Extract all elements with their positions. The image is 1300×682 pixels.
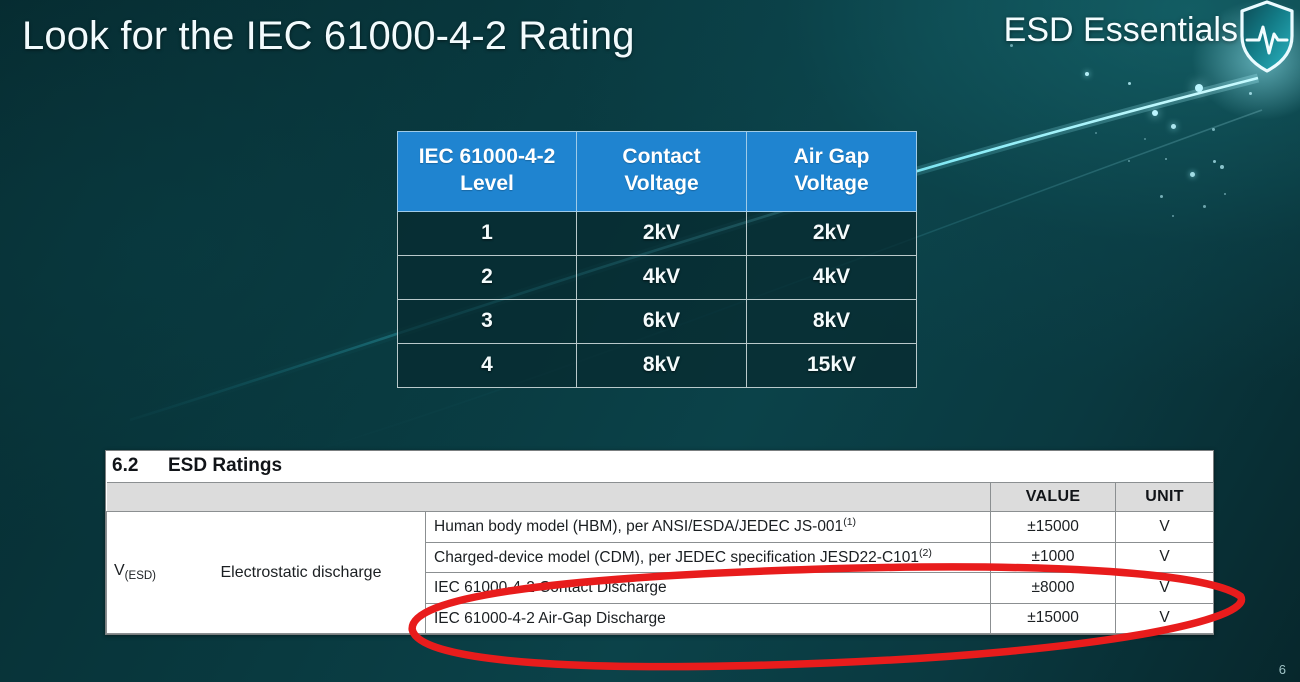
cell-parameter: Electrostatic discharge xyxy=(219,512,426,634)
page-number: 6 xyxy=(1279,662,1286,677)
cell-airgap: 15kV xyxy=(747,343,917,387)
cell-level: 2 xyxy=(398,255,577,299)
column-header-level: IEC 61000-4-2 Level xyxy=(398,132,577,212)
brand-lockup: ESD Essentials xyxy=(1004,11,1238,50)
cell-condition: Charged-device model (CDM), per JEDEC sp… xyxy=(426,542,991,573)
cell-contact: 8kV xyxy=(577,343,747,387)
column-header-value: VALUE xyxy=(991,483,1116,512)
iec-level-table: IEC 61000-4-2 Level Contact Voltage Air … xyxy=(397,131,917,388)
cell-value: ±1000 xyxy=(991,542,1116,573)
cell-level: 3 xyxy=(398,299,577,343)
condition-text: Human body model (HBM), per ANSI/ESDA/JE… xyxy=(434,518,843,535)
condition-text: IEC 61000-4-2 Contact Discharge xyxy=(434,579,667,596)
section-number: 6.2 xyxy=(112,455,146,477)
cell-symbol: V(ESD) xyxy=(107,512,219,634)
cell-unit: V xyxy=(1116,512,1214,543)
cell-value: ±15000 xyxy=(991,603,1116,634)
header-line-1: Contact xyxy=(622,145,700,168)
table-row: 1 2kV 2kV xyxy=(398,211,917,255)
cell-contact: 2kV xyxy=(577,211,747,255)
table-row: 3 6kV 8kV xyxy=(398,299,917,343)
table-header-row: IEC 61000-4-2 Level Contact Voltage Air … xyxy=(398,132,917,212)
cell-level: 1 xyxy=(398,211,577,255)
condition-text: IEC 61000-4-2 Air-Gap Discharge xyxy=(434,610,666,627)
cell-unit: V xyxy=(1116,573,1214,604)
section-title: ESD Ratings xyxy=(168,455,282,477)
header-line-2: Voltage xyxy=(794,172,868,195)
cell-airgap: 2kV xyxy=(747,211,917,255)
datasheet-header-row: VALUE UNIT xyxy=(107,483,1214,512)
cell-unit: V xyxy=(1116,542,1214,573)
cell-condition: IEC 61000-4-2 Air-Gap Discharge xyxy=(426,603,991,634)
table-row: V(ESD) Electrostatic discharge Human bod… xyxy=(107,512,1214,543)
cell-unit: V xyxy=(1116,603,1214,634)
cell-airgap: 4kV xyxy=(747,255,917,299)
brand-name: ESD Essentials xyxy=(1004,11,1238,50)
table-row: 4 8kV 15kV xyxy=(398,343,917,387)
table-row: 2 4kV 4kV xyxy=(398,255,917,299)
datasheet-table: VALUE UNIT V(ESD) Electrostatic discharg… xyxy=(106,482,1214,634)
page-title: Look for the IEC 61000-4-2 Rating xyxy=(22,14,635,59)
header-line-2: Level xyxy=(460,172,514,195)
condition-text: Charged-device model (CDM), per JEDEC sp… xyxy=(434,549,919,566)
cell-contact: 6kV xyxy=(577,299,747,343)
header-line-1: Air Gap xyxy=(794,145,870,168)
cell-airgap: 8kV xyxy=(747,299,917,343)
header-line-1: IEC 61000-4-2 xyxy=(419,145,556,168)
footnote-marker: (1) xyxy=(843,516,856,528)
cell-value: ±15000 xyxy=(991,512,1116,543)
column-header-blank xyxy=(107,483,991,512)
footnote-marker: (2) xyxy=(919,547,932,559)
cell-value: ±8000 xyxy=(991,573,1116,604)
symbol-text: V xyxy=(114,562,125,579)
column-header-unit: UNIT xyxy=(1116,483,1214,512)
slide-canvas: Look for the IEC 61000-4-2 Rating ESD Es… xyxy=(0,0,1300,682)
cell-condition: Human body model (HBM), per ANSI/ESDA/JE… xyxy=(426,512,991,543)
cell-level: 4 xyxy=(398,343,577,387)
cell-condition: IEC 61000-4-2 Contact Discharge xyxy=(426,573,991,604)
symbol-subscript: (ESD) xyxy=(125,571,156,583)
column-header-air-gap-voltage: Air Gap Voltage xyxy=(747,132,917,212)
cell-contact: 4kV xyxy=(577,255,747,299)
column-header-contact-voltage: Contact Voltage xyxy=(577,132,747,212)
header-line-2: Voltage xyxy=(624,172,698,195)
shield-pulse-icon xyxy=(1238,0,1296,74)
datasheet-section-heading: 6.2 ESD Ratings xyxy=(106,451,1213,482)
datasheet-esd-ratings-clipping: 6.2 ESD Ratings VALUE UNIT xyxy=(105,450,1214,635)
